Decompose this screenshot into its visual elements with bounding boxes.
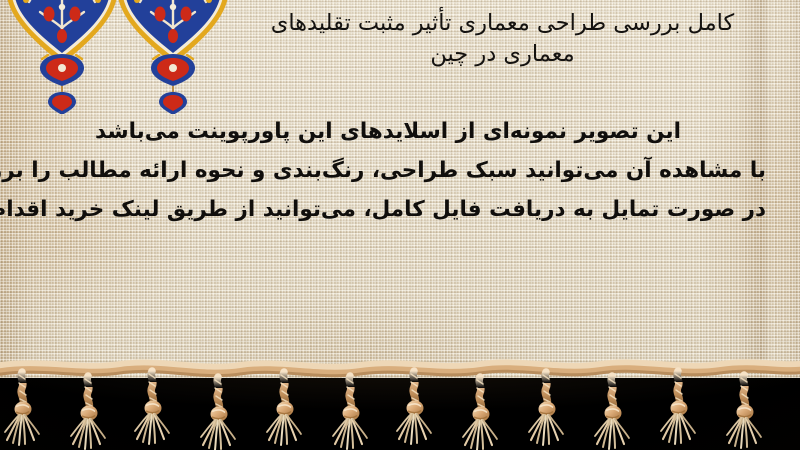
slide-body: این تصویر نمونه‌ای از اسلایدهای این پاور… <box>60 112 766 229</box>
slide-canvas: کامل بررسی طراحی معماری تأثیر مثبت تقلید… <box>0 0 800 450</box>
slide-title: کامل بررسی طراحی معماری تأثیر مثبت تقلید… <box>230 8 775 70</box>
slide-title-line-1: کامل بررسی طراحی معماری تأثیر مثبت تقلید… <box>230 8 775 39</box>
slide-body-line-1: این تصویر نمونه‌ای از اسلایدهای این پاور… <box>60 112 766 151</box>
slide-body-line-3: در صورت تمایل به دریافت فایل کامل، می‌تو… <box>60 190 766 229</box>
slide-body-line-2: با مشاهده آن می‌توانید سبک طراحی، رنگ‌بن… <box>60 151 766 190</box>
slide-title-line-2: معماری در چین <box>230 39 775 70</box>
